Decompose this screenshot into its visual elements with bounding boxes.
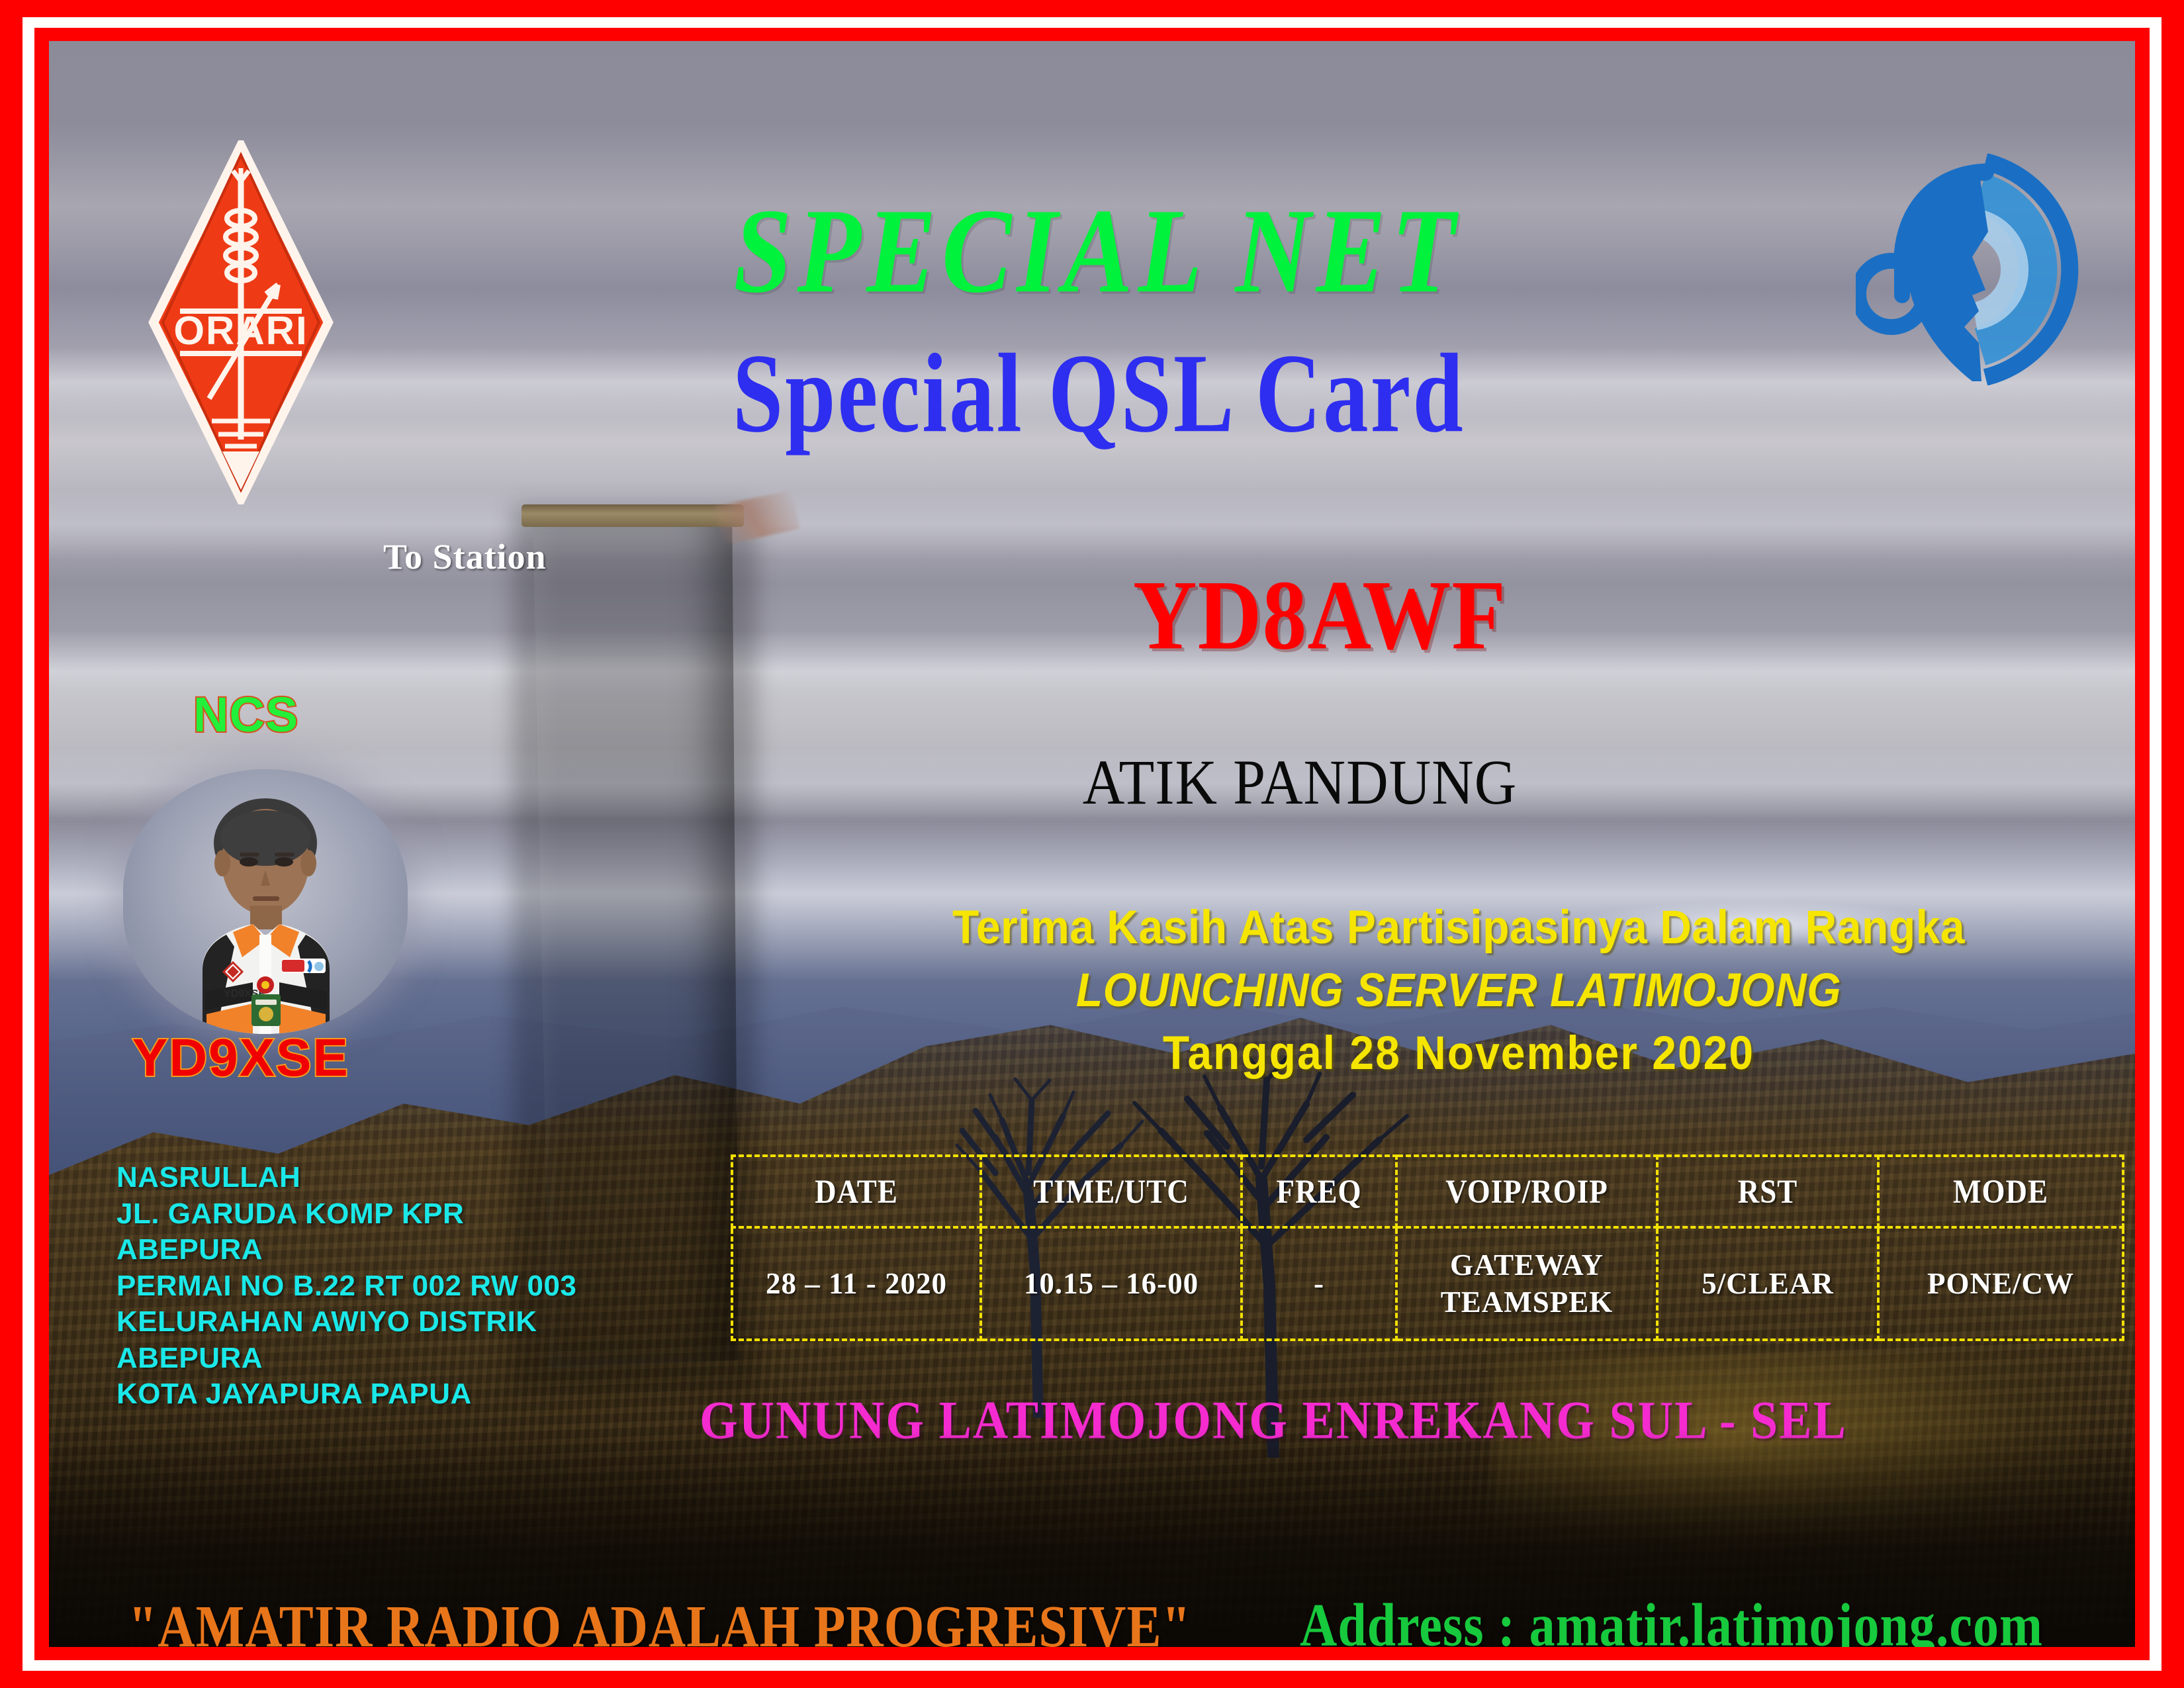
address-line: KOTA JAYAPURA PAPUA: [116, 1376, 576, 1413]
address-line: JL. GARUDA KOMP KPR: [116, 1196, 576, 1233]
sender-address-block: NASRULLAH JL. GARUDA KOMP KPR ABEPURA PE…: [116, 1160, 576, 1413]
address-line: NASRULLAH: [116, 1160, 576, 1196]
qso-details-table: DATE TIME/UTC FREQ VOIP/ROIP RST MODE 28…: [731, 1154, 2124, 1341]
website-address: Address : amatir.latimojong.com: [1300, 1590, 2043, 1647]
event-title: LOUNCHING SERVER LATIMOJONG: [823, 962, 2094, 1017]
event-date: Tanggal 28 November 2020: [823, 1025, 2094, 1080]
background-photograph: ORARI: [49, 41, 2135, 1647]
page-title: SPECIAL NET: [49, 181, 2135, 321]
column-header-date: DATE: [732, 1152, 981, 1232]
address-line: PERMAI NO B.22 RT 002 RW 003: [116, 1268, 576, 1305]
ncs-operator-portrait: YD9XSE: [123, 769, 408, 1034]
to-station-callsign: YD8AWF: [976, 558, 1664, 672]
ncs-callsign: YD9XSE: [132, 1027, 349, 1088]
to-station-label: To Station: [383, 536, 547, 577]
to-station-operator-name: ATIK PANDUNG: [936, 746, 1664, 820]
cell-time: 10.15 – 16-00: [981, 1227, 1242, 1340]
address-line: ABEPURA: [116, 1340, 576, 1377]
column-header-mode: MODE: [1878, 1152, 2123, 1232]
cell-freq: -: [1242, 1227, 1396, 1340]
cell-voip-roip: GATEWAY TEAMSPEK: [1396, 1227, 1657, 1340]
qsl-card: ORARI: [0, 0, 2184, 1688]
column-header-rst: RST: [1657, 1152, 1878, 1232]
monument-cap: [522, 504, 744, 527]
cell-date: 28 – 11 - 2020: [732, 1227, 981, 1340]
cell-voip-line2: TEAMSPEK: [1398, 1284, 1656, 1321]
cell-rst: 5/CLEAR: [1657, 1227, 1878, 1340]
column-header-time: TIME/UTC: [981, 1152, 1242, 1232]
address-line: KELURAHAN AWIYO DISTRIK: [116, 1304, 576, 1340]
thanks-message: Terima Kasih Atas Partisipasinya Dalam R…: [823, 900, 2094, 954]
slogan-text: "AMATIR RADIO ADALAH PROGRESIVE": [128, 1592, 1191, 1647]
table-header-row: DATE TIME/UTC FREQ VOIP/ROIP RST MODE: [732, 1156, 2123, 1227]
ncs-label: NCS: [193, 686, 298, 743]
cell-voip-line1: GATEWAY: [1398, 1246, 1656, 1284]
address-line: ABEPURA: [116, 1232, 576, 1268]
column-header-voip: VOIP/ROIP: [1396, 1152, 1657, 1232]
cell-mode: PONE/CW: [1878, 1227, 2123, 1340]
table-row: 28 – 11 - 2020 10.15 – 16-00 - GATEWAY T…: [732, 1227, 2123, 1340]
column-header-freq: FREQ: [1242, 1152, 1396, 1232]
page-subtitle: Special QSL Card: [71, 328, 2135, 458]
